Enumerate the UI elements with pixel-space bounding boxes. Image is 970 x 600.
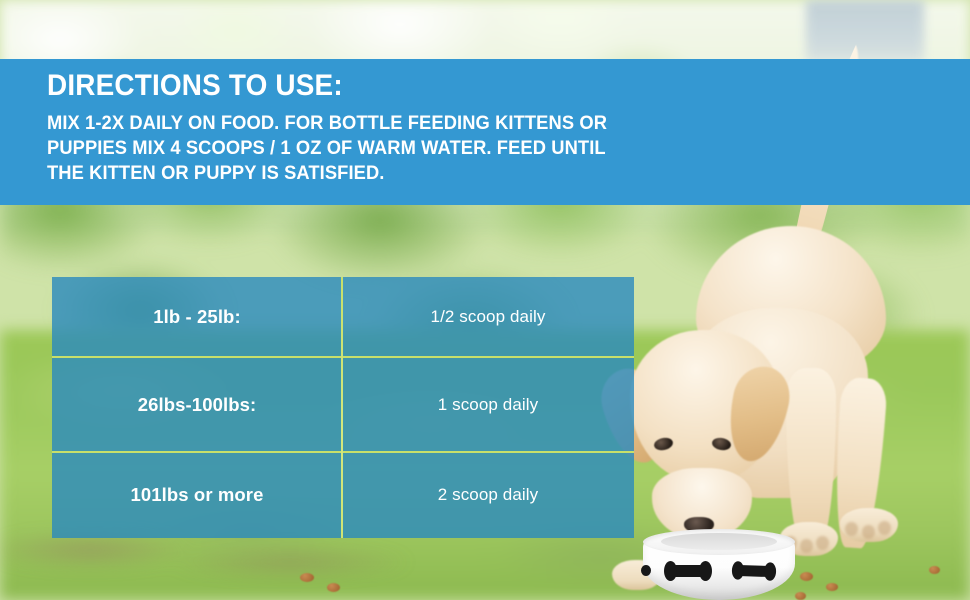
- table-row-dose: 1 scoop daily: [342, 357, 634, 452]
- directions-banner: DIRECTIONS TO USE: MIX 1-2X DAILY ON FOO…: [0, 59, 970, 205]
- bone-icon: [641, 565, 651, 576]
- bone-icon: [669, 565, 707, 577]
- dosage-table: 1lb - 25lb: 1/2 scoop daily 26lbs-100lbs…: [52, 277, 634, 538]
- bone-icon: [736, 565, 771, 577]
- table-row-divider: [52, 356, 634, 358]
- puppy-hind-leg-left: [786, 368, 836, 546]
- bowl-interior: [661, 533, 777, 550]
- table-row-weight: 1lb - 25lb:: [52, 277, 342, 357]
- table-row-weight: 101lbs or more: [52, 452, 342, 538]
- kibble-piece: [327, 583, 340, 592]
- dog-bowl: [643, 527, 795, 600]
- table-row-divider: [52, 451, 634, 453]
- table-column-divider: [341, 277, 343, 538]
- directions-line-1: MIX 1-2X DAILY ON FOOD. FOR BOTTLE FEEDI…: [47, 111, 915, 136]
- puppy-paw: [840, 508, 898, 542]
- table-row-dose: 1/2 scoop daily: [342, 277, 634, 357]
- table-row-dose: 2 scoop daily: [342, 452, 634, 538]
- kibble-piece: [300, 573, 314, 582]
- promotional-banner-image: DIRECTIONS TO USE: MIX 1-2X DAILY ON FOO…: [0, 0, 970, 600]
- table-row-weight: 26lbs-100lbs:: [52, 357, 342, 452]
- directions-line-3: THE KITTEN OR PUPPY IS SATISFIED.: [47, 161, 915, 186]
- directions-line-2: PUPPIES MIX 4 SCOOPS / 1 OZ OF WARM WATE…: [47, 136, 915, 161]
- directions-body: MIX 1-2X DAILY ON FOOD. FOR BOTTLE FEEDI…: [47, 111, 915, 186]
- directions-heading: DIRECTIONS TO USE:: [47, 70, 905, 102]
